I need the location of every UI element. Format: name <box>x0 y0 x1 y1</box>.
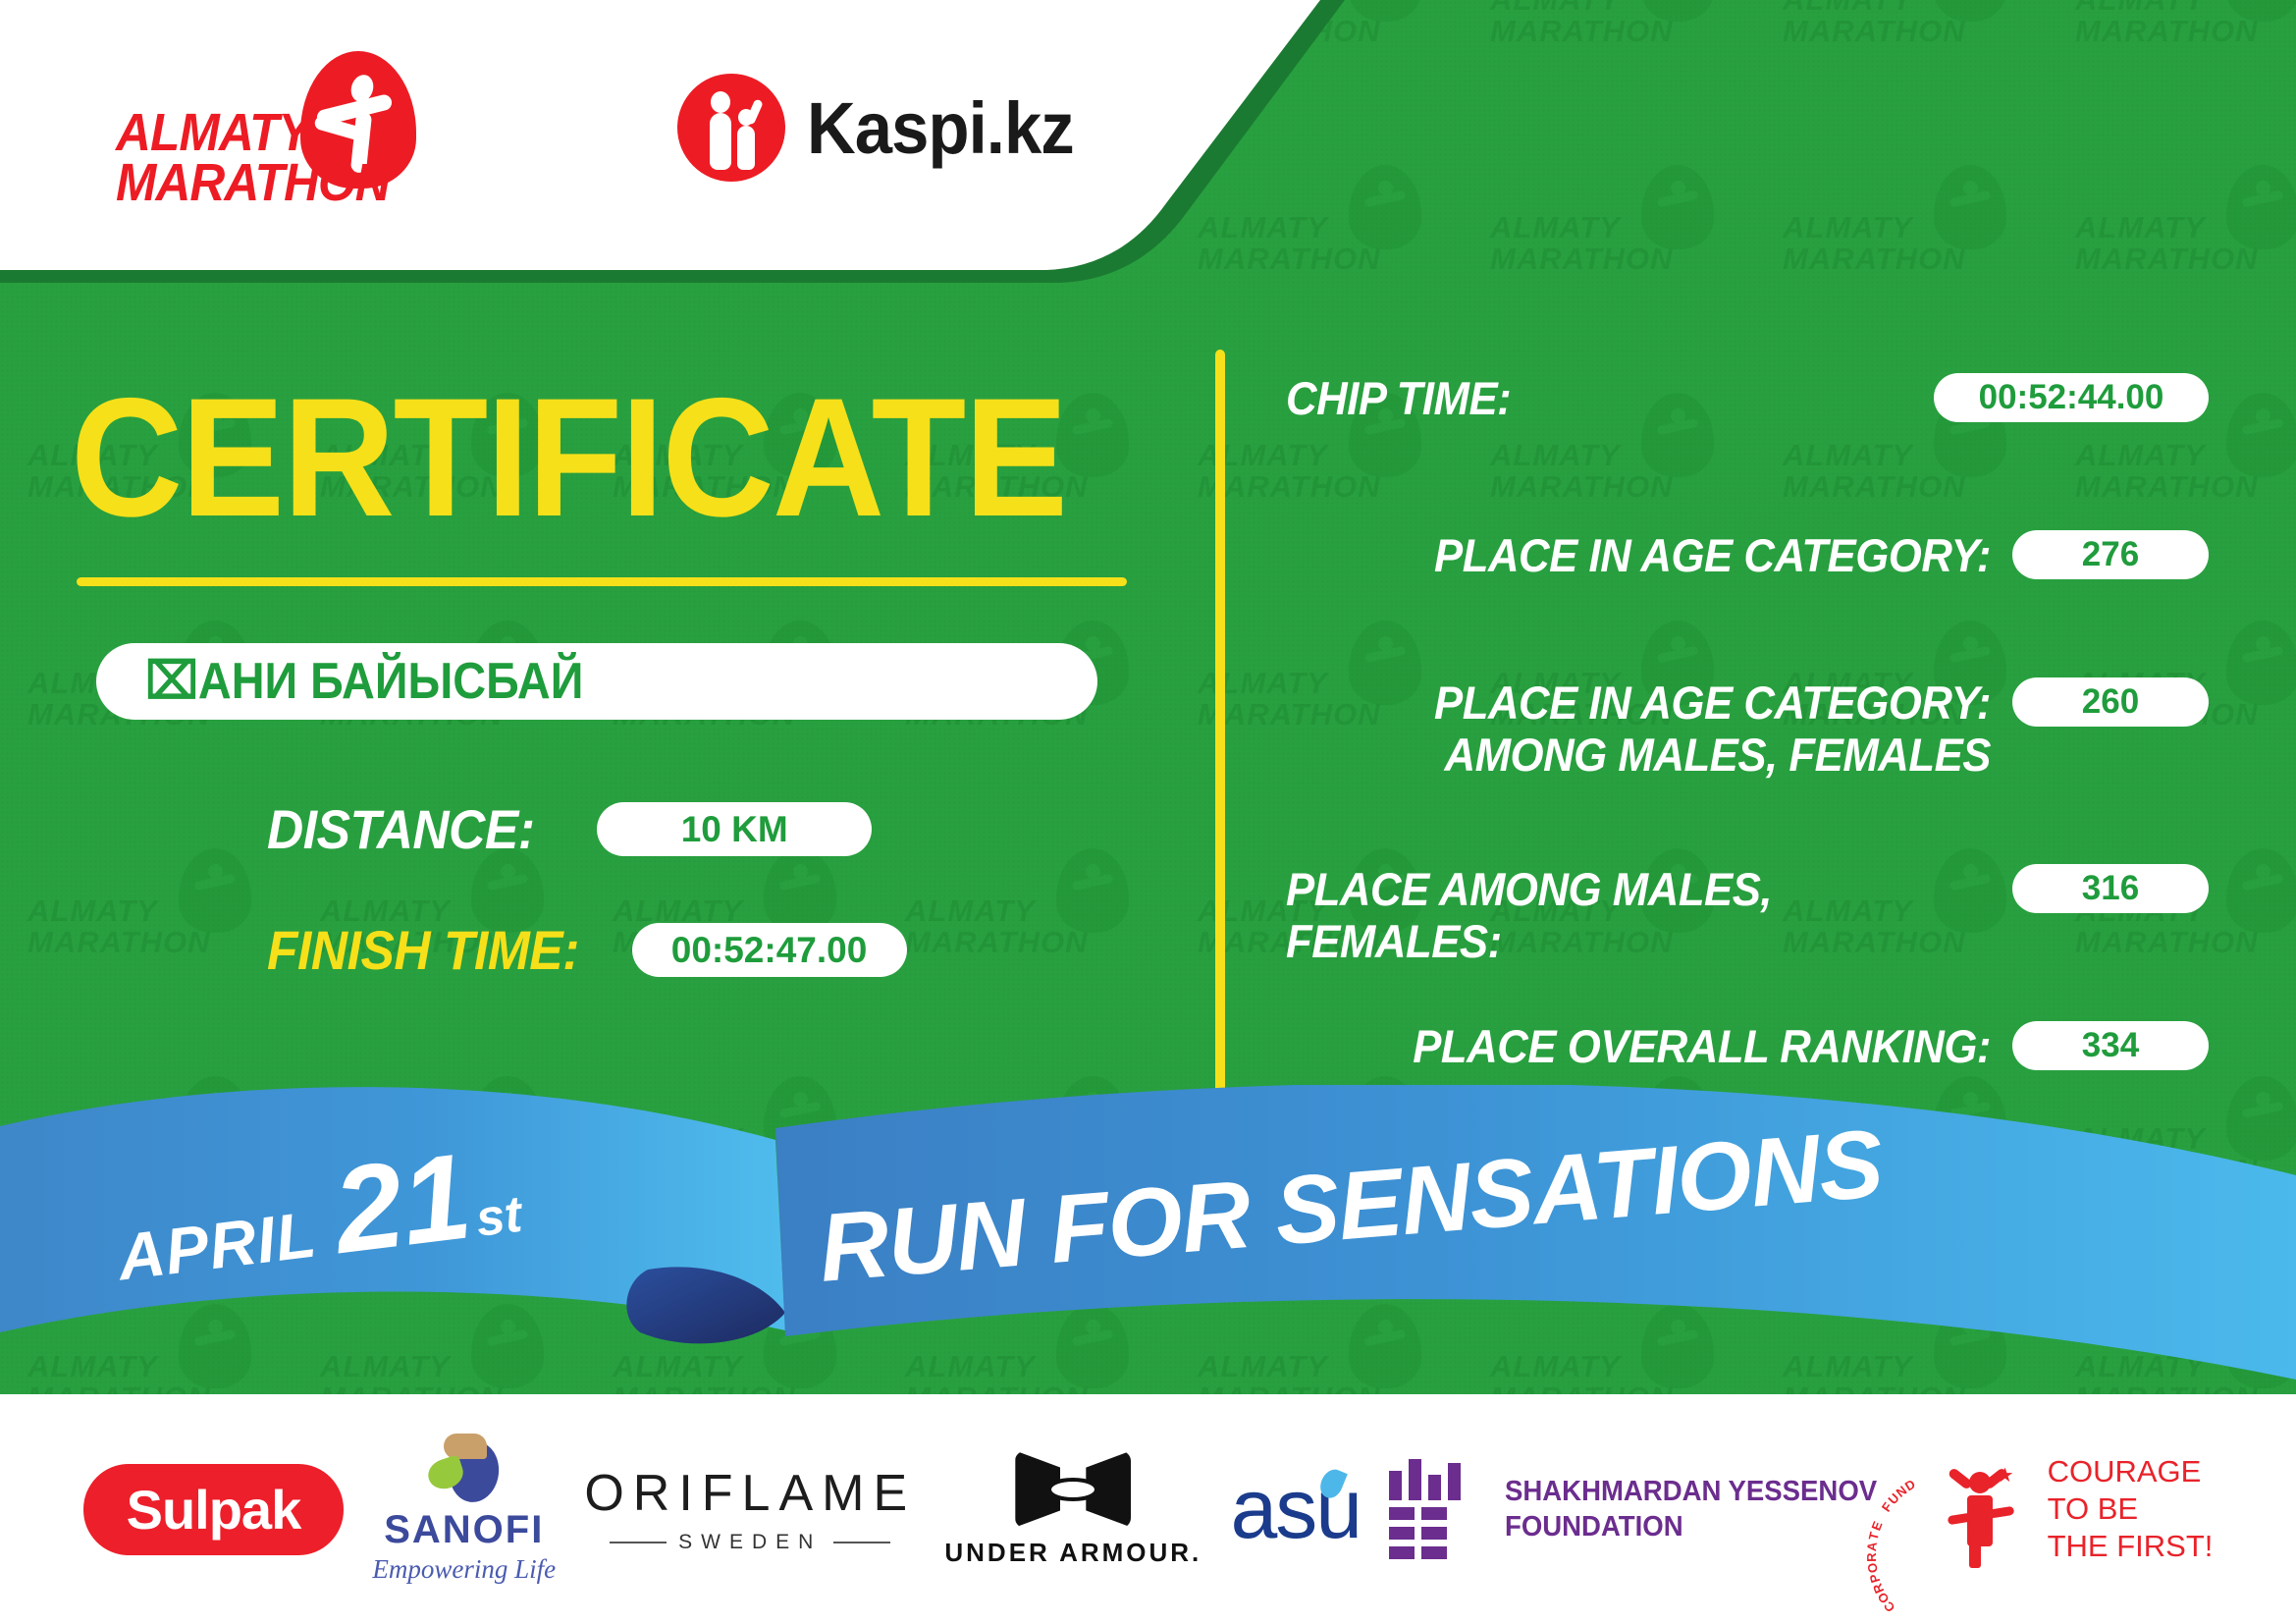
courage-line2: TO BE <box>2048 1490 2214 1528</box>
kaspi-logo: Kaspi.kz <box>677 69 1094 187</box>
result-label: PLACE OVERALL RANKING: <box>1335 1021 1991 1073</box>
oriflame-sub-row: SWEDEN <box>584 1531 916 1554</box>
yessenov-wordmark: SHAKHMARDAN YESSENOV FOUNDATION <box>1505 1474 1877 1545</box>
watermark-tile: ALMATYMARATHON <box>2075 0 2296 108</box>
yessenov-line1: SHAKHMARDAN YESSENOV <box>1505 1474 1877 1509</box>
sponsor-sanofi: SANOFI Empowering Life <box>372 1434 556 1585</box>
result-label: PLACE IN AGE CATEGORY: <box>1335 530 1991 582</box>
result-row: PLACE IN AGE CATEGORY:AMONG MALES, FEMAL… <box>1286 677 2209 781</box>
sponsor-footer: Sulpak SANOFI Empowering Life ORIFLAME S… <box>0 1394 2296 1624</box>
distance-value: 10 KM <box>597 802 872 856</box>
sponsor-asu: asu <box>1230 1461 1361 1558</box>
watermark-tile: ALMATYMARATHON <box>1490 0 1716 108</box>
almaty-marathon-wordmark: ALMATY MARATHON <box>116 108 390 209</box>
title-underline <box>77 577 1127 586</box>
result-label: PLACE IN AGE CATEGORY:AMONG MALES, FEMAL… <box>1335 677 1991 781</box>
oriflame-sub: SWEDEN <box>678 1531 822 1554</box>
watermark-tile: ALMATYMARATHON <box>2075 169 2296 336</box>
courage-runner-icon: CORPORATE FUND ★ <box>1926 1450 2034 1568</box>
courage-line1: COURAGE <box>2048 1453 2214 1490</box>
distance-row: DISTANCE: 10 KM <box>267 797 872 861</box>
finish-time-value: 00:52:47.00 <box>632 923 907 977</box>
column-divider <box>1215 350 1225 1102</box>
two-people-circle-icon <box>677 74 785 182</box>
sulpak-wordmark: Sulpak <box>127 1478 301 1542</box>
sponsor-under-armour: UNDER ARMOUR. <box>944 1451 1201 1568</box>
sponsor-oriflame: ORIFLAME SWEDEN <box>584 1464 916 1554</box>
under-armour-icon <box>1015 1451 1131 1528</box>
result-row: PLACE IN AGE CATEGORY:276 <box>1286 530 2209 582</box>
divider-line-right <box>833 1542 890 1543</box>
ribbon-day: 21 <box>328 1135 477 1272</box>
finish-time-row: FINISH TIME: 00:52:47.00 <box>267 918 907 982</box>
oriflame-wordmark: ORIFLAME <box>584 1464 916 1523</box>
watermark-tile: ALMATYMARATHON <box>905 852 1131 1019</box>
kaspi-wordmark: Kaspi.kz <box>807 86 1074 170</box>
result-value: 260 <box>2012 677 2209 727</box>
yessenov-line2: FOUNDATION <box>1505 1509 1877 1544</box>
result-row: PLACE OVERALL RANKING:334 <box>1286 1021 2209 1073</box>
result-value: 276 <box>2012 530 2209 579</box>
courage-wordmark: COURAGE TO BE THE FIRST! <box>2048 1453 2214 1564</box>
sponsor-yessenov-foundation: SHAKHMARDAN YESSENOV FOUNDATION <box>1389 1459 1896 1559</box>
almaty-logo-line1: ALMATY <box>116 108 390 158</box>
result-value: 316 <box>2012 864 2209 913</box>
almaty-marathon-logo: ALMATY MARATHON <box>116 51 450 208</box>
participant-name-field: ⌧АНИ БАЙЫСБАЙ <box>96 643 1097 720</box>
almaty-logo-line2: MARATHON <box>116 158 390 208</box>
sponsor-courage-fund: CORPORATE FUND ★ COURAGE TO BE THE FIRST… <box>1926 1450 2214 1568</box>
result-value: 334 <box>2012 1021 2209 1070</box>
yessenov-mark-icon <box>1389 1459 1479 1559</box>
courage-line3: THE FIRST! <box>2048 1528 2214 1565</box>
distance-label: DISTANCE: <box>267 797 535 861</box>
watermark-tile: ALMATYMARATHON <box>1783 169 2008 336</box>
sponsor-row: Sulpak SANOFI Empowering Life ORIFLAME S… <box>0 1394 2296 1624</box>
watermark-tile: ALMATYMARATHON <box>1490 169 1716 336</box>
watermark-tile: ALMATYMARATHON <box>27 852 253 1019</box>
sponsor-sulpak: Sulpak <box>83 1464 345 1555</box>
result-label: CHIP TIME: <box>1286 373 1868 425</box>
sanofi-tagline: Empowering Life <box>372 1554 556 1585</box>
page-title: CERTIFICATE <box>71 373 1066 542</box>
watermark-tile: ALMATYMARATHON <box>1783 0 2008 108</box>
sanofi-wordmark: SANOFI <box>384 1508 544 1552</box>
result-label: PLACE AMONG MALES,FEMALES: <box>1286 864 1942 967</box>
divider-line-left <box>610 1542 667 1543</box>
certificate-page: ALMATYMARATHONALMATYMARATHONALMATYMARATH… <box>0 0 2296 1624</box>
result-row: CHIP TIME:00:52:44.00 <box>1286 373 2209 425</box>
under-armour-wordmark: UNDER ARMOUR. <box>944 1538 1201 1568</box>
ribbon-day-suffix: st <box>473 1185 525 1249</box>
result-value: 00:52:44.00 <box>1934 373 2209 422</box>
participant-name: ⌧АНИ БАЙЫСБАЙ <box>145 652 583 711</box>
sanofi-mark-icon <box>422 1434 507 1504</box>
finish-time-label: FINISH TIME: <box>267 918 579 982</box>
result-row: PLACE AMONG MALES,FEMALES:316 <box>1286 864 2209 967</box>
